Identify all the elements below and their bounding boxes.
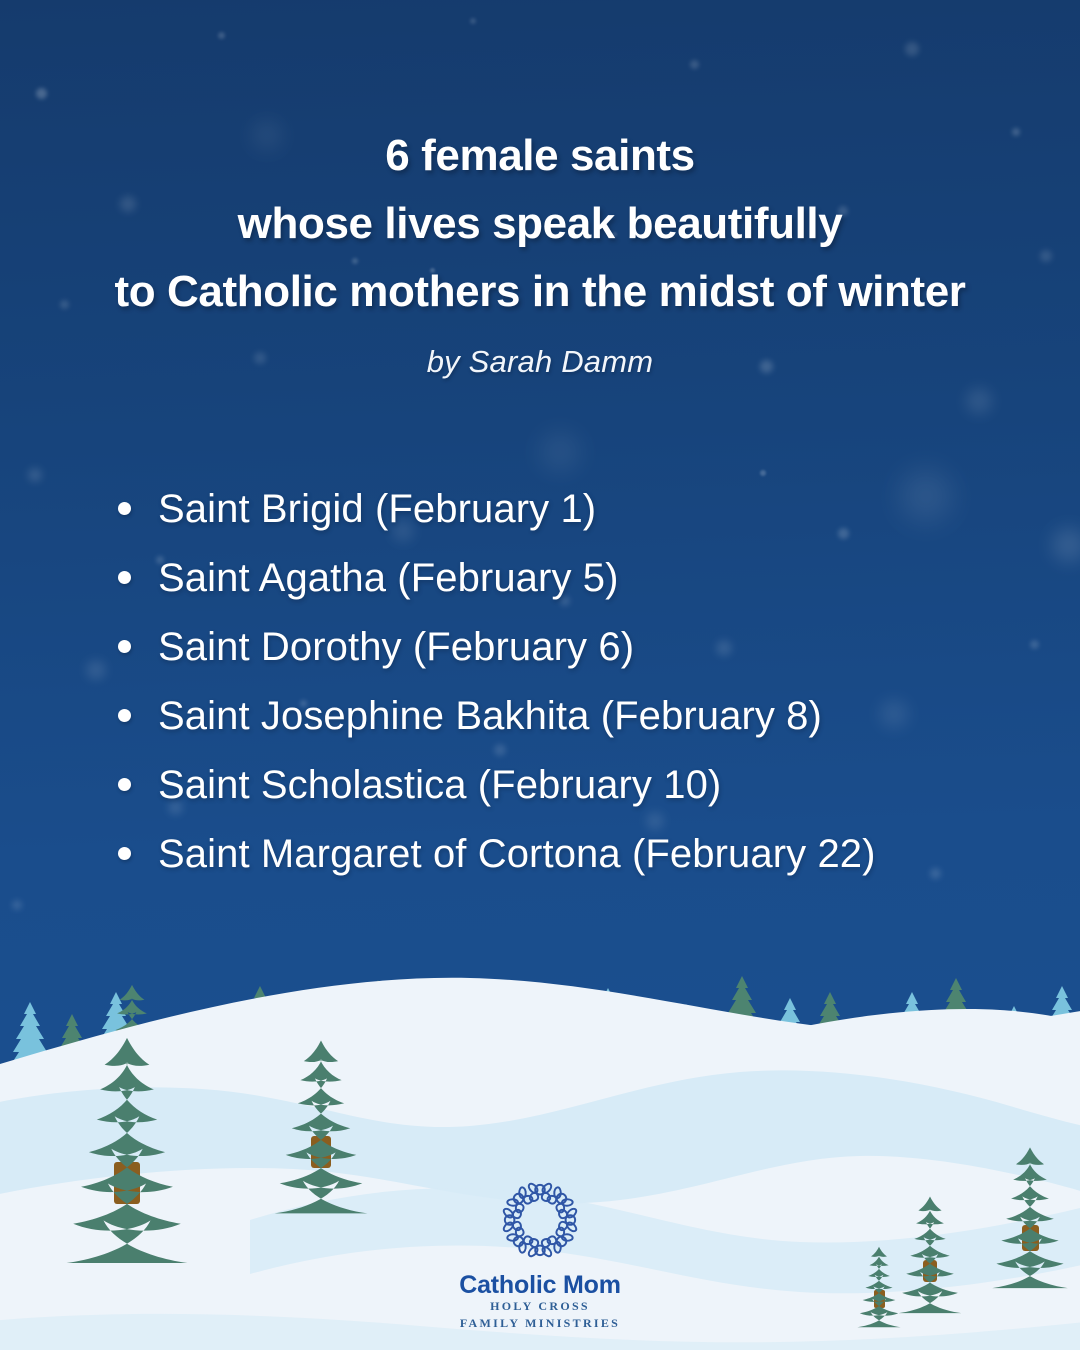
snow-dot <box>540 432 580 472</box>
snow-dot <box>905 42 919 56</box>
snow-dot <box>966 388 992 414</box>
list-item-label: Saint Dorothy (February 6) <box>158 627 634 667</box>
list-item: Saint Dorothy (February 6) <box>118 612 876 681</box>
headline-block: 6 female saints whose lives speak beauti… <box>0 122 1080 380</box>
snow-dot <box>1052 528 1080 562</box>
list-item-label: Saint Scholastica (February 10) <box>158 765 721 805</box>
logo-subtitle-line-2: FAMILY MINISTRIES <box>0 1315 1080 1332</box>
bullet-icon <box>118 847 131 860</box>
snow-dot <box>86 660 106 680</box>
list-item-label: Saint Margaret of Cortona (February 22) <box>158 834 876 874</box>
snow-dot <box>470 18 476 24</box>
snow-dot <box>1030 640 1039 649</box>
snow-dot <box>36 88 47 99</box>
snow-dot <box>880 700 908 728</box>
list-item-label: Saint Brigid (February 1) <box>158 489 596 529</box>
logo-subtitle-line-1: HOLY CROSS <box>0 1298 1080 1315</box>
poster-canvas: 6 female saints whose lives speak beauti… <box>0 0 1080 1350</box>
snow-dot <box>28 468 42 482</box>
list-item: Saint Agatha (February 5) <box>118 543 876 612</box>
saints-list: Saint Brigid (February 1) Saint Agatha (… <box>118 474 876 888</box>
bullet-icon <box>118 502 131 515</box>
list-item: Saint Margaret of Cortona (February 22) <box>118 819 876 888</box>
snow-dot <box>900 470 952 522</box>
snow-dot <box>12 900 22 910</box>
snow-dot <box>930 868 941 879</box>
snow-dot <box>218 32 225 39</box>
bullet-icon <box>118 640 131 653</box>
headline-line-1: 6 female saints <box>0 122 1080 190</box>
list-item: Saint Brigid (February 1) <box>118 474 876 543</box>
list-item-label: Saint Josephine Bakhita (February 8) <box>158 696 822 736</box>
list-item: Saint Josephine Bakhita (February 8) <box>118 681 876 750</box>
wreath-ornament-icon <box>494 1174 586 1266</box>
list-item-label: Saint Agatha (February 5) <box>158 558 619 598</box>
byline: by Sarah Damm <box>0 344 1080 380</box>
headline-line-2: whose lives speak beautifully <box>0 190 1080 258</box>
list-item: Saint Scholastica (February 10) <box>118 750 876 819</box>
headline-line-3: to Catholic mothers in the midst of wint… <box>0 258 1080 326</box>
logo-wordmark: Catholic Mom <box>0 1272 1080 1298</box>
snow-dot <box>690 60 699 69</box>
bullet-icon <box>118 778 131 791</box>
bullet-icon <box>118 571 131 584</box>
catholic-mom-logo[interactable]: Catholic Mom HOLY CROSS FAMILY MINISTRIE… <box>0 1174 1080 1332</box>
bullet-icon <box>118 709 131 722</box>
